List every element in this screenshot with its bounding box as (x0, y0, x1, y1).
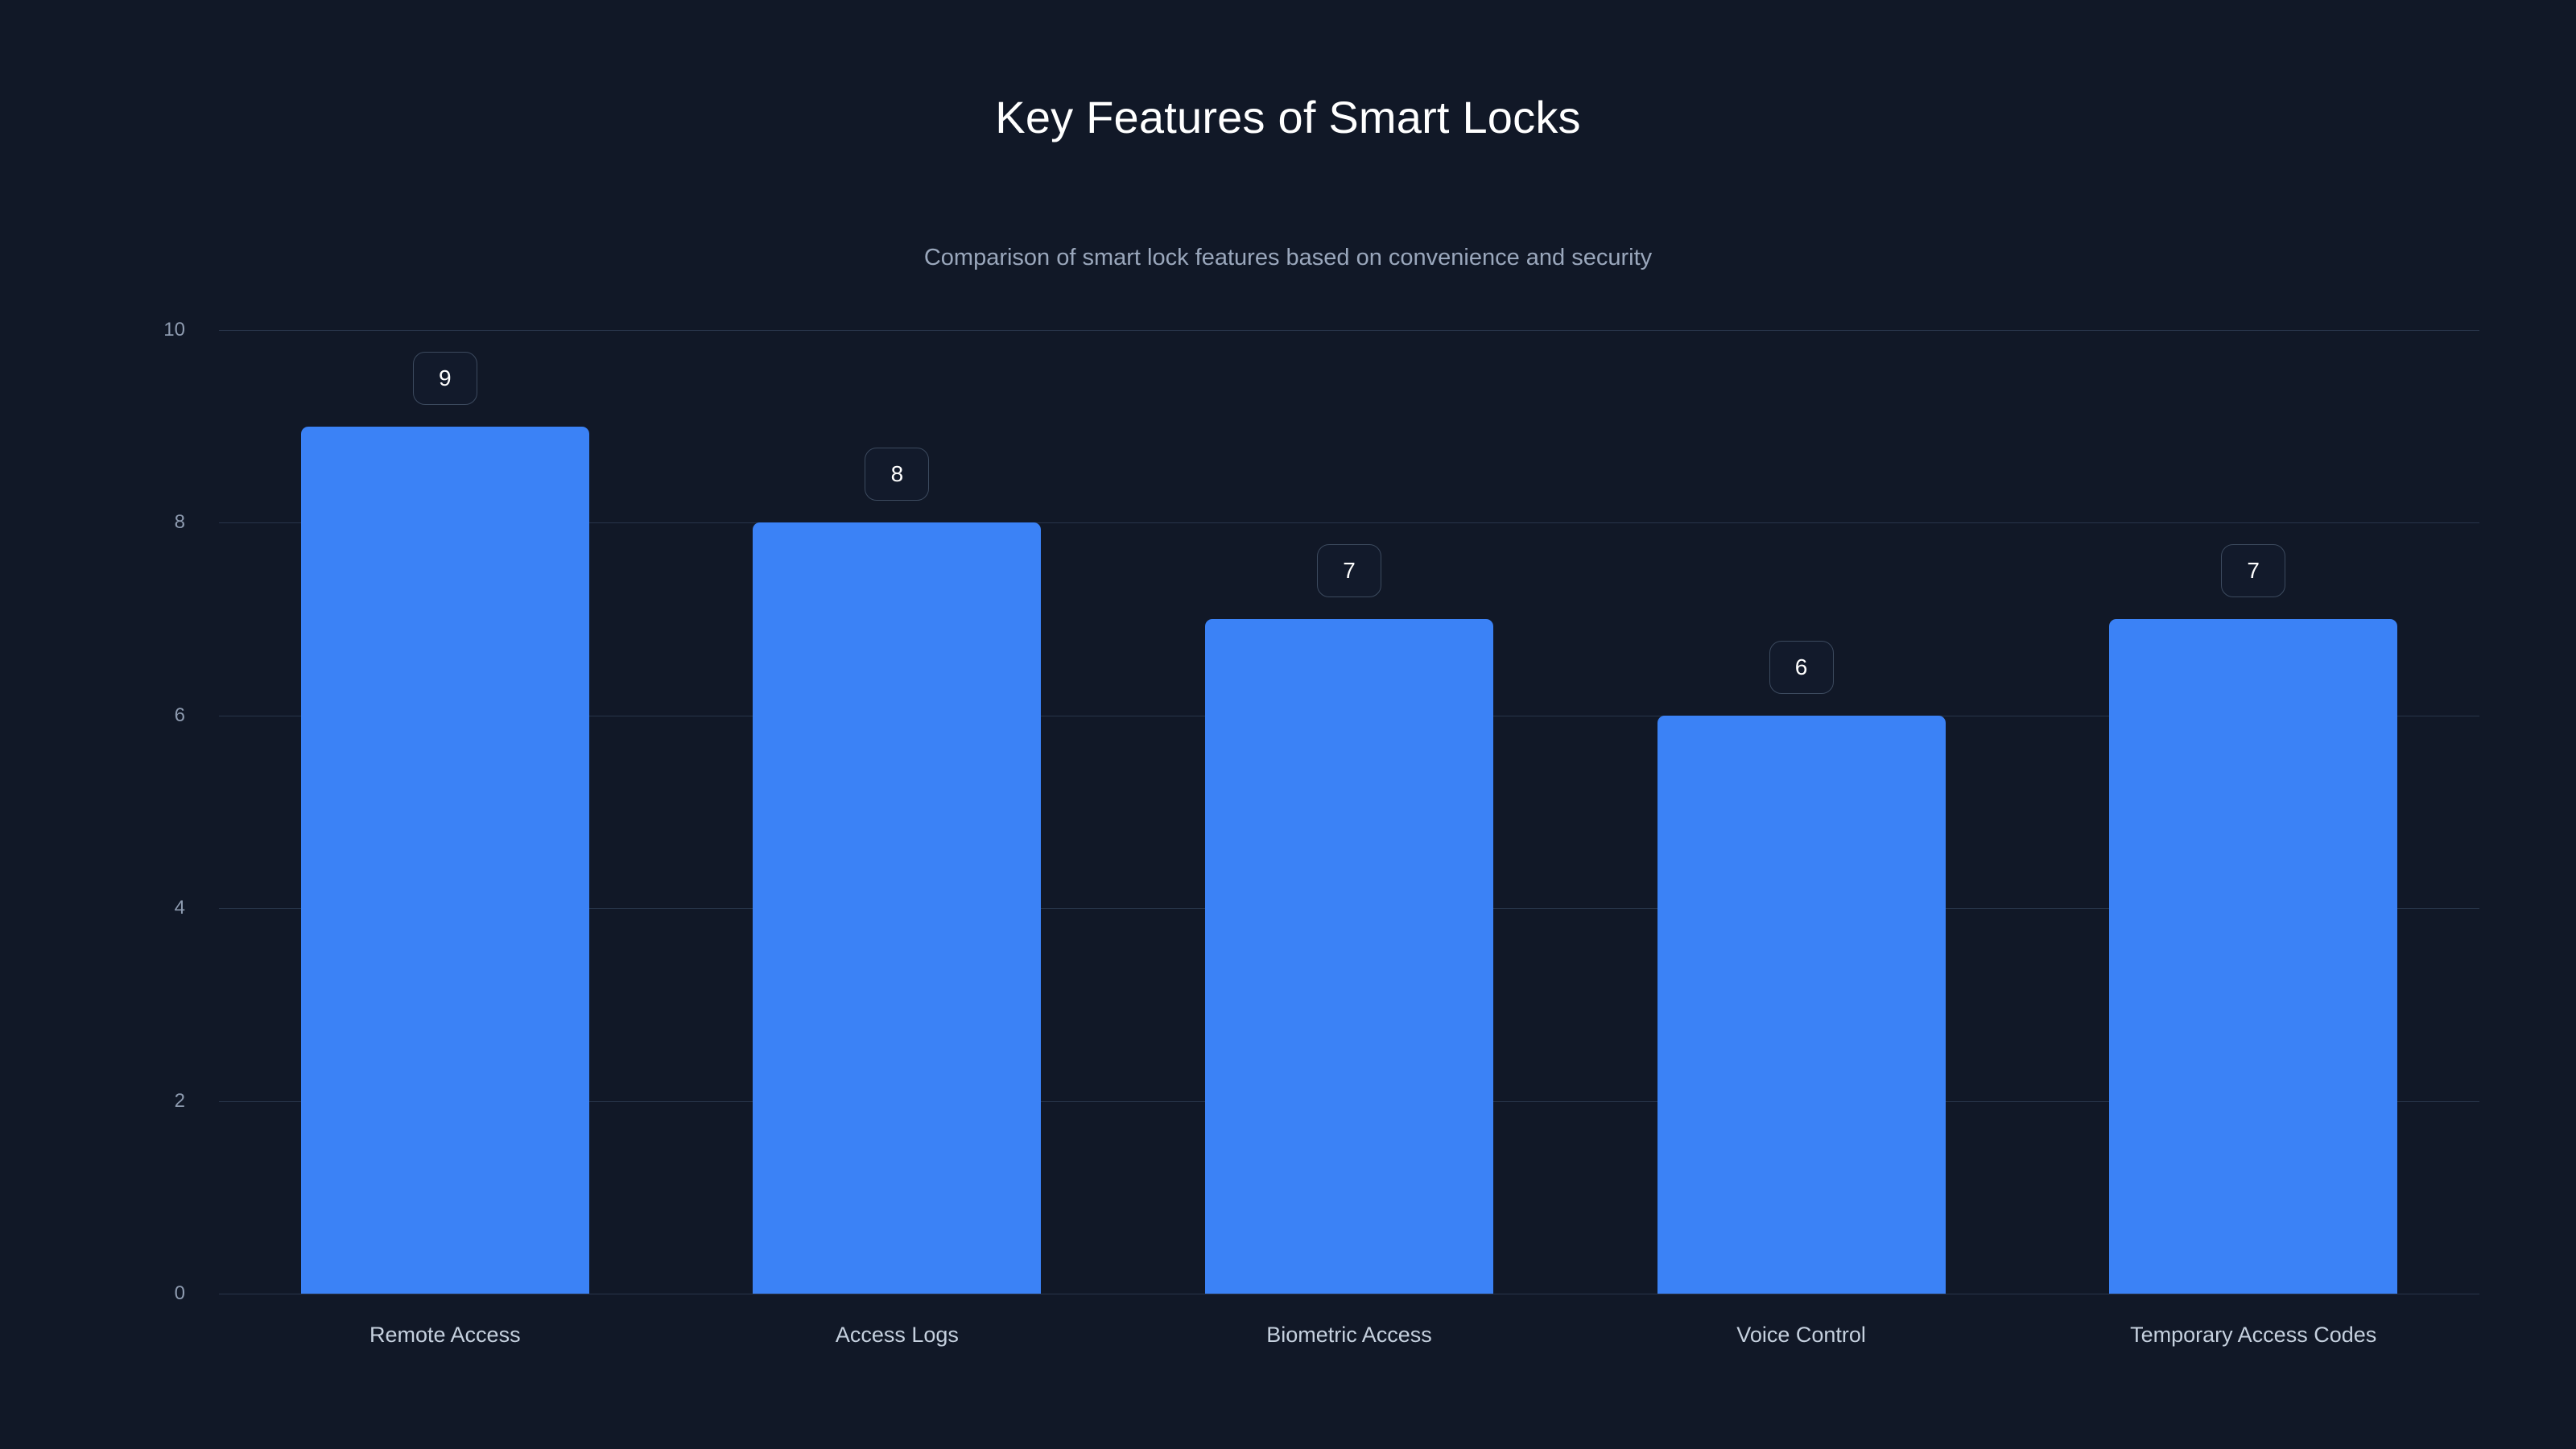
bar[interactable] (753, 522, 1041, 1294)
chart-subtitle: Comparison of smart lock features based … (0, 246, 2576, 270)
chart-title: Key Features of Smart Locks (0, 95, 2576, 140)
bar[interactable] (1205, 619, 1493, 1294)
bar-value-label: 8 (865, 448, 929, 501)
bar-value-label: 7 (2221, 544, 2285, 597)
y-axis-tick-labels: 1086420 (0, 330, 209, 1294)
y-axis-tick-label: 4 (89, 898, 185, 918)
x-axis-tick-labels: Remote AccessAccess LogsBiometric Access… (0, 1324, 2576, 1373)
bar[interactable] (2109, 619, 2397, 1294)
bar-value-label: 9 (413, 352, 477, 405)
bar[interactable] (1657, 716, 1946, 1294)
y-axis-tick-label: 8 (89, 513, 185, 532)
plot-area: 98767 (219, 330, 2479, 1294)
y-axis-tick-label: 10 (89, 320, 185, 340)
gridline (219, 1294, 2479, 1294)
bar-value-label: 6 (1769, 641, 1834, 694)
y-axis-tick-label: 0 (89, 1284, 185, 1303)
gridline (219, 330, 2479, 331)
bar-value-label: 7 (1317, 544, 1381, 597)
x-axis-tick-label: Temporary Access Codes (1931, 1324, 2575, 1346)
bar-chart: Key Features of Smart Locks Comparison o… (0, 0, 2576, 1449)
bar[interactable] (301, 427, 589, 1294)
y-axis-tick-label: 2 (89, 1092, 185, 1111)
y-axis-tick-label: 6 (89, 706, 185, 725)
